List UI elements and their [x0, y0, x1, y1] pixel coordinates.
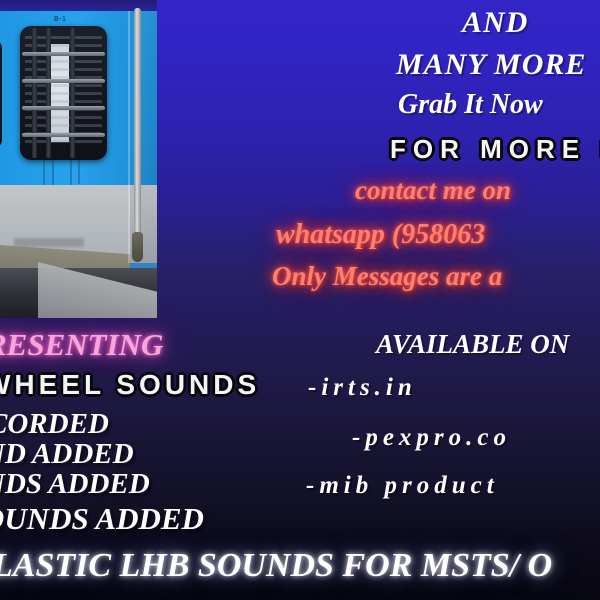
headline-grab-it-now: Grab It Now — [398, 91, 543, 119]
platform-pole — [134, 8, 141, 258]
coach-panel-smudge — [14, 238, 84, 247]
window-horizontal-bar — [22, 106, 105, 110]
rust-streak — [78, 160, 80, 184]
window-vertical-bar — [32, 28, 37, 158]
contact-line-2-whatsapp: whatsapp (958063 — [276, 221, 485, 249]
available-on-heading: AVAILABLE ON — [376, 331, 569, 358]
window-vertical-bar — [70, 28, 75, 158]
headline-for-more-info: FOR MORE IN — [390, 136, 600, 162]
coach-code-label: B-1 — [54, 16, 66, 23]
link-pexpro[interactable]: -pexpro.co — [352, 425, 511, 450]
presenting-heading: RESENTING — [0, 329, 163, 360]
link-irts[interactable]: -irts.in — [308, 375, 417, 400]
wheel-sounds-heading: WHEEL SOUNDS — [0, 371, 260, 399]
contact-line-3-messages-only: Only Messages are a — [272, 263, 502, 290]
window-horizontal-bar — [22, 79, 105, 83]
rust-streak — [52, 160, 54, 186]
bottom-banner-text: LASTIC LHB SOUNDS FOR MSTS/ O — [0, 549, 552, 583]
feature-line-sound-added: ND ADDED — [0, 440, 134, 469]
window-horizontal-bar — [22, 52, 105, 56]
platform-pole-base — [132, 232, 143, 262]
train-coach-photo: B-1 — [0, 0, 157, 318]
coach-window-partial — [0, 40, 2, 148]
promo-poster: B-1 AND MANY MORE Grab It Now FOR MORE I… — [0, 0, 600, 600]
feature-line-sounds-added: NDS ADDED — [0, 470, 150, 499]
headline-and: AND — [462, 8, 528, 38]
coach-door-seam — [128, 11, 130, 263]
feature-line-recorded: CORDED — [0, 410, 109, 439]
window-vertical-bar — [46, 28, 51, 158]
window-horizontal-bar — [22, 133, 105, 137]
coach-window — [20, 26, 107, 160]
feature-line-more-sounds-added: OUNDS ADDED — [0, 503, 204, 534]
contact-line-1: contact me on — [355, 177, 511, 204]
headline-many-more: MANY MORE — [396, 50, 586, 80]
link-mib-productions[interactable]: -mib product — [306, 473, 499, 498]
